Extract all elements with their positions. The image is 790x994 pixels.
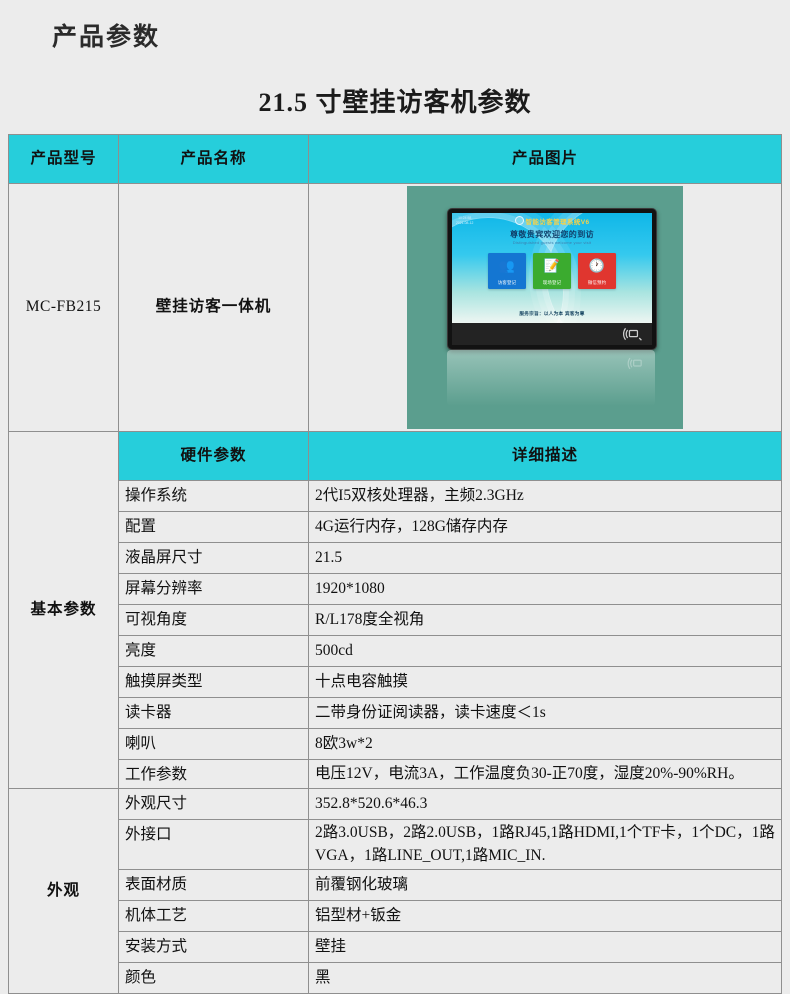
device-screen: 10:24:58 2021-08-12 智能访客管理系统V6 尊敬贵宾欢迎您的到… <box>452 213 652 323</box>
group-label-appearance: 外观 <box>9 789 119 994</box>
brand-logo-icon <box>515 216 524 225</box>
visitor-kiosk-device: 10:24:58 2021-08-12 智能访客管理系统V6 尊敬贵宾欢迎您的到… <box>447 208 657 350</box>
spec-value: 电压12V，电流3A，工作温度负30-正70度，湿度20%-90%RH。 <box>309 760 782 789</box>
product-model: MC-FB215 <box>9 184 119 432</box>
screen-tile-group: 👥 访客登记 📝 现场登记 🕐 微信预约 <box>452 253 652 289</box>
spec-value: 壁挂 <box>309 932 782 963</box>
spec-key: 液晶屏尺寸 <box>119 543 309 574</box>
table-row: 亮度 500cd <box>9 636 782 667</box>
spec-value: 8欧3w*2 <box>309 729 782 760</box>
spec-key: 亮度 <box>119 636 309 667</box>
screen-footer-text: 服务宗旨：以人为本 宾客为尊 <box>452 311 652 318</box>
table-row: 工作参数 电压12V，电流3A，工作温度负30-正70度，湿度20%-90%RH… <box>9 760 782 789</box>
device-chin <box>452 323 652 345</box>
product-row: MC-FB215 壁挂访客一体机 10:24:58 2021-08-12 <box>9 184 782 432</box>
product-name: 壁挂访客一体机 <box>119 184 309 432</box>
spec-key: 屏幕分辨率 <box>119 574 309 605</box>
table-row: 喇叭 8欧3w*2 <box>9 729 782 760</box>
screen-tile-label: 访客登记 <box>488 280 526 286</box>
page-title: 产品参数 <box>52 17 160 53</box>
table-row: 可视角度 R/L178度全视角 <box>9 605 782 636</box>
spec-value: 2路3.0USB，2路2.0USB，1路RJ45,1路HDMI,1个TF卡，1个… <box>309 820 782 870</box>
clock-icon: 🕐 <box>578 259 616 272</box>
screen-brand-text: 智能访客管理系统V6 <box>526 219 590 226</box>
table-row: 安装方式 壁挂 <box>9 932 782 963</box>
spec-key: 喇叭 <box>119 729 309 760</box>
spec-key: 外接口 <box>119 820 309 870</box>
screen-tile-visitor-register[interactable]: 👥 访客登记 <box>488 253 526 289</box>
table-row: 触摸屏类型 十点电容触摸 <box>9 667 782 698</box>
nfc-reader-reflection-icon <box>627 356 647 371</box>
spec-value: 500cd <box>309 636 782 667</box>
people-icon: 👥 <box>488 259 526 272</box>
spec-value: 二带身份证阅读器，读卡速度＜1s <box>309 698 782 729</box>
spec-value: 前覆钢化玻璃 <box>309 870 782 901</box>
table-header-row: 产品型号 产品名称 产品图片 <box>9 135 782 184</box>
document-icon: 📝 <box>533 259 571 272</box>
spec-value: 352.8*520.6*46.3 <box>309 789 782 820</box>
spec-key: 外观尺寸 <box>119 789 309 820</box>
spec-value: 铝型材+钣金 <box>309 901 782 932</box>
spec-key: 触摸屏类型 <box>119 667 309 698</box>
spec-value: R/L178度全视角 <box>309 605 782 636</box>
header-hardware-description: 详细描述 <box>309 432 782 481</box>
spec-value: 黑 <box>309 963 782 994</box>
product-photo: 10:24:58 2021-08-12 智能访客管理系统V6 尊敬贵宾欢迎您的到… <box>407 186 683 429</box>
screen-tile-wechat-appointment[interactable]: 🕐 微信预约 <box>578 253 616 289</box>
spec-value: 4G运行内存，128G储存内存 <box>309 512 782 543</box>
header-name: 产品名称 <box>119 135 309 184</box>
screen-tile-onsite-register[interactable]: 📝 现场登记 <box>533 253 571 289</box>
table-row: 表面材质 前覆钢化玻璃 <box>9 870 782 901</box>
screen-welcome-subtitle: Distinguished guests welcome your visit <box>452 240 652 246</box>
table-row: 外接口 2路3.0USB，2路2.0USB，1路RJ45,1路HDMI,1个TF… <box>9 820 782 870</box>
spec-key: 表面材质 <box>119 870 309 901</box>
product-spec-table: 产品型号 产品名称 产品图片 MC-FB215 壁挂访客一体机 10:24:58 <box>8 134 782 994</box>
spec-key: 可视角度 <box>119 605 309 636</box>
header-hardware-param: 硬件参数 <box>119 432 309 481</box>
table-row: 外观 外观尺寸 352.8*520.6*46.3 <box>9 789 782 820</box>
table-row: 操作系统 2代I5双核处理器，主频2.3GHz <box>9 481 782 512</box>
table-row: 机体工艺 铝型材+钣金 <box>9 901 782 932</box>
header-model: 产品型号 <box>9 135 119 184</box>
spec-key: 颜色 <box>119 963 309 994</box>
hardware-header-row: 基本参数 硬件参数 详细描述 <box>9 432 782 481</box>
spec-key: 读卡器 <box>119 698 309 729</box>
device-reflection <box>447 350 655 406</box>
spec-key: 配置 <box>119 512 309 543</box>
spec-key: 操作系统 <box>119 481 309 512</box>
header-picture: 产品图片 <box>309 135 782 184</box>
spec-value: 十点电容触摸 <box>309 667 782 698</box>
screen-tile-label: 微信预约 <box>578 280 616 286</box>
screen-brand-title: 智能访客管理系统V6 <box>452 216 652 227</box>
group-label-basic: 基本参数 <box>9 432 119 789</box>
nfc-reader-icon <box>622 326 644 342</box>
spec-key: 安装方式 <box>119 932 309 963</box>
table-row: 配置 4G运行内存，128G储存内存 <box>9 512 782 543</box>
spec-value: 2代I5双核处理器，主频2.3GHz <box>309 481 782 512</box>
spec-key: 工作参数 <box>119 760 309 789</box>
screen-tile-label: 现场登记 <box>533 280 571 286</box>
spec-key: 机体工艺 <box>119 901 309 932</box>
spec-value: 21.5 <box>309 543 782 574</box>
table-row: 液晶屏尺寸 21.5 <box>9 543 782 574</box>
table-title: 21.5 寸壁挂访客机参数 <box>0 82 790 119</box>
table-row: 屏幕分辨率 1920*1080 <box>9 574 782 605</box>
screen-welcome-text: 尊敬贵宾欢迎您的到访 <box>452 229 652 241</box>
product-photo-cell: 10:24:58 2021-08-12 智能访客管理系统V6 尊敬贵宾欢迎您的到… <box>309 184 782 432</box>
table-row: 读卡器 二带身份证阅读器，读卡速度＜1s <box>9 698 782 729</box>
spec-value: 1920*1080 <box>309 574 782 605</box>
table-row: 颜色 黑 <box>9 963 782 994</box>
